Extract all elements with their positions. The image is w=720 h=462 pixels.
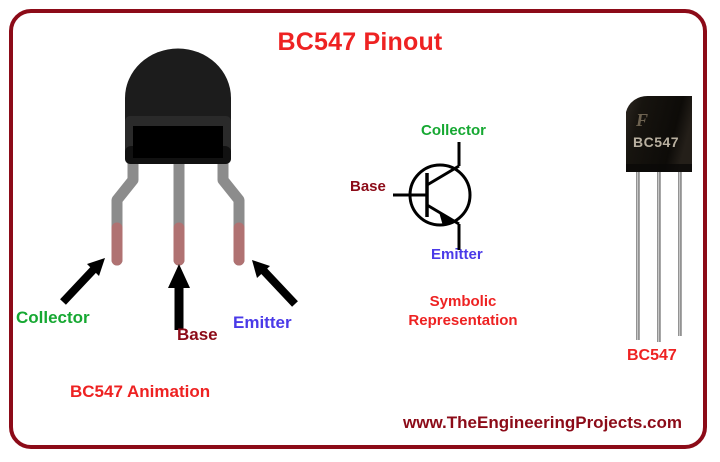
- symbol-collector-diagonal: [427, 166, 459, 185]
- photo-lead-2: [657, 166, 661, 342]
- photo-manufacturer-logo: F: [635, 110, 648, 130]
- body-face-lower: [133, 144, 223, 158]
- animation-caption: BC547 Animation: [70, 382, 210, 402]
- body-dome: [125, 49, 231, 125]
- photo-lead-1: [636, 166, 640, 340]
- transistor-body: [125, 49, 231, 164]
- photo-caption: BC547: [627, 347, 677, 365]
- animation-label-base: Base: [177, 325, 218, 345]
- bc547-animation-drawing: [55, 50, 345, 350]
- arrow-emitter: [252, 260, 295, 304]
- symbol-caption-line1: Symbolic: [430, 293, 497, 310]
- photo-case-bottom: [626, 164, 692, 172]
- symbol-caption: Symbolic Representation: [368, 292, 558, 330]
- photo-lead-3: [678, 166, 682, 336]
- animation-label-collector: Collector: [16, 308, 90, 328]
- symbol-label-base: Base: [350, 178, 386, 195]
- website-credit: www.TheEngineeringProjects.com: [0, 413, 706, 433]
- bc547-photograph: F BC547: [612, 92, 712, 342]
- photo-case: F BC547: [626, 96, 692, 172]
- symbol-label-collector: Collector: [421, 122, 486, 139]
- photo-leads: [636, 166, 682, 342]
- symbol-label-emitter: Emitter: [431, 246, 483, 263]
- arrow-collector: [63, 258, 105, 302]
- transistor-legs: [117, 158, 239, 260]
- symbol-caption-line2: Representation: [408, 312, 517, 329]
- animation-label-emitter: Emitter: [233, 313, 292, 333]
- arrow-base: [168, 264, 190, 330]
- pinout-infographic: BC547 Pinout: [0, 0, 720, 462]
- photo-part-marking: BC547: [633, 134, 679, 150]
